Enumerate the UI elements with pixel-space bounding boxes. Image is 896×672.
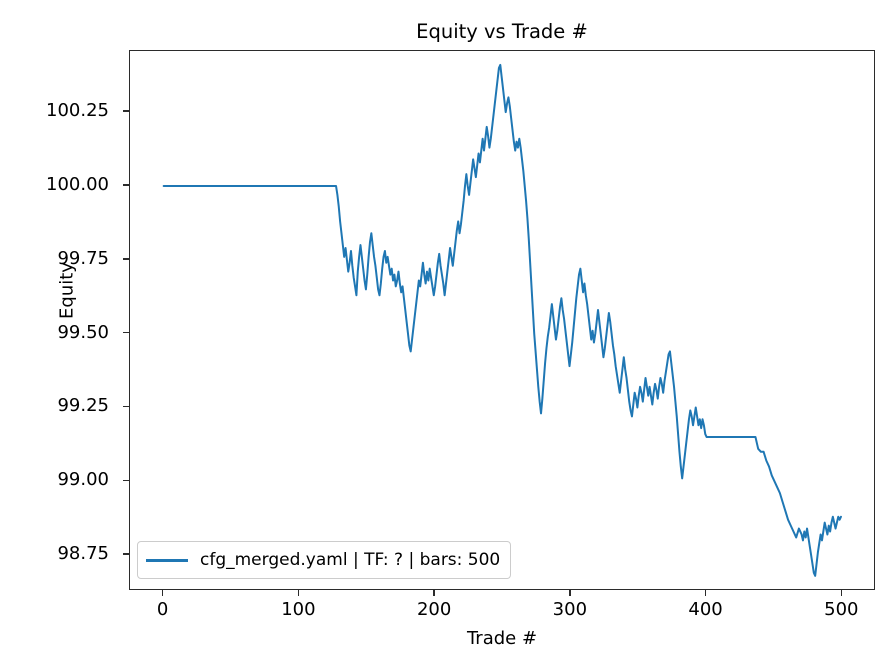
matplotlib-figure: Equity vs Trade # Equity 98.7599.0099.25… (0, 0, 896, 672)
legend-line-swatch (146, 559, 188, 562)
x-tick-mark (705, 590, 707, 596)
x-tick-label: 200 (394, 600, 474, 620)
x-tick-mark (569, 590, 571, 596)
y-tick-mark (123, 110, 129, 112)
y-tick-mark (123, 258, 129, 260)
y-tick-mark (123, 480, 129, 482)
y-tick-label: 100.25 (46, 102, 120, 120)
x-tick-mark (841, 590, 843, 596)
y-tick-mark (123, 553, 129, 555)
y-axis-tick-labels: 98.7599.0099.2599.5099.75100.00100.25 (0, 0, 120, 672)
legend-label: cfg_merged.yaml | TF: ? | bars: 500 (200, 550, 500, 570)
y-tick-mark (123, 332, 129, 334)
y-tick-label: 99.50 (57, 324, 120, 342)
x-tick-label: 100 (258, 600, 338, 620)
plot-area (129, 50, 875, 590)
y-tick-mark (123, 406, 129, 408)
x-tick-mark (433, 590, 435, 596)
x-tick-label: 0 (123, 600, 203, 620)
y-tick-label: 99.00 (57, 471, 120, 489)
y-tick-label: 99.25 (57, 397, 120, 415)
legend-box: cfg_merged.yaml | TF: ? | bars: 500 (137, 541, 511, 579)
y-tick-label: 98.75 (57, 545, 120, 563)
data-line-series (130, 51, 876, 591)
chart-title: Equity vs Trade # (129, 20, 875, 44)
y-tick-mark (123, 184, 129, 186)
y-tick-label: 100.00 (46, 176, 120, 194)
x-tick-mark (298, 590, 300, 596)
x-axis-label: Trade # (129, 628, 875, 649)
equity-line (164, 65, 841, 576)
y-tick-label: 99.75 (57, 250, 120, 268)
x-tick-mark (162, 590, 164, 596)
x-tick-label: 300 (530, 600, 610, 620)
x-tick-label: 500 (801, 600, 881, 620)
x-tick-label: 400 (666, 600, 746, 620)
